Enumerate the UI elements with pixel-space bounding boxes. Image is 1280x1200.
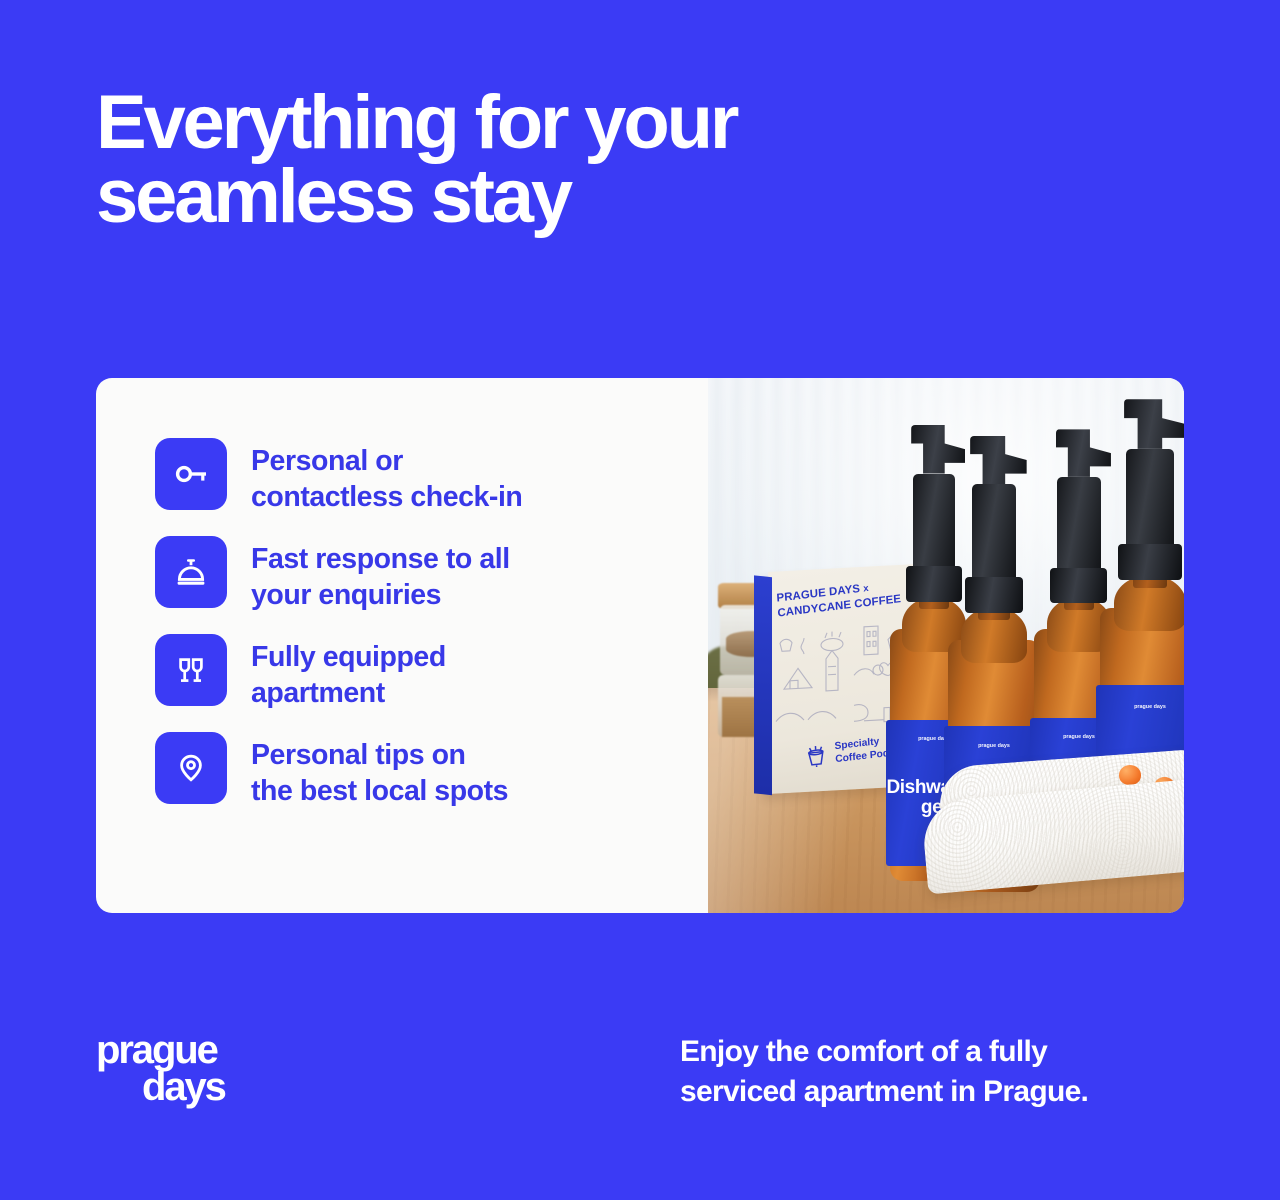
bottle-brand: prague days bbox=[1096, 704, 1184, 710]
bottle-brand: prague days bbox=[944, 743, 1043, 749]
footer-tagline: Enjoy the comfort of a fully serviced ap… bbox=[680, 1032, 1210, 1112]
coffee-pod-icon bbox=[803, 742, 828, 771]
headline-line-1: Everything for your bbox=[96, 80, 736, 165]
earplug bbox=[1119, 765, 1141, 785]
feature-tips-line-1: Personal tips on bbox=[251, 739, 466, 771]
pump-head bbox=[913, 474, 955, 580]
feature-list: Personal or contactless check-in Fast re… bbox=[96, 378, 708, 913]
logo-line-2: days bbox=[96, 1069, 225, 1106]
page-title: Everything for your seamless stay bbox=[96, 86, 1156, 235]
feature-label-tips: Personal tips on the best local spots bbox=[251, 732, 508, 810]
pin-icon bbox=[155, 732, 227, 804]
amenities-photo: PRAGUE DAYS x CANDYCANE COFFEE bbox=[708, 378, 1184, 913]
feature-item-tips: Personal tips on the best local spots bbox=[155, 732, 708, 810]
tagline-line-1: Enjoy the comfort of a fully bbox=[680, 1035, 1047, 1068]
pump-head bbox=[1057, 477, 1100, 580]
tagline-line-2: serviced apartment in Prague. bbox=[680, 1075, 1088, 1108]
pump-head bbox=[972, 484, 1016, 590]
wineglass-icon bbox=[155, 634, 227, 706]
pump-head bbox=[1126, 449, 1174, 557]
feature-item-response: Fast response to all your enquiries bbox=[155, 536, 708, 614]
feature-tips-line-2: the best local spots bbox=[251, 775, 508, 807]
brand-logo: prague days bbox=[96, 1032, 225, 1106]
feature-checkin-line-2: contactless check-in bbox=[251, 481, 522, 513]
feature-response-line-1: Fast response to all bbox=[251, 543, 510, 575]
feature-apartment-line-1: Fully equipped bbox=[251, 641, 446, 673]
feature-label-response: Fast response to all your enquiries bbox=[251, 536, 510, 614]
bell-icon bbox=[155, 536, 227, 608]
feature-card: Personal or contactless check-in Fast re… bbox=[96, 378, 1184, 913]
feature-item-checkin: Personal or contactless check-in bbox=[155, 438, 708, 516]
feature-label-checkin: Personal or contactless check-in bbox=[251, 438, 522, 516]
feature-checkin-line-1: Personal or bbox=[251, 445, 403, 477]
feature-response-line-2: your enquiries bbox=[251, 579, 441, 611]
key-icon bbox=[155, 438, 227, 510]
feature-label-apartment: Fully equipped apartment bbox=[251, 634, 446, 712]
feature-apartment-line-2: apartment bbox=[251, 677, 385, 709]
feature-item-apartment: Fully equipped apartment bbox=[155, 634, 708, 712]
coffee-card-title-x: x bbox=[863, 583, 869, 595]
headline-line-2: seamless stay bbox=[96, 160, 1156, 234]
